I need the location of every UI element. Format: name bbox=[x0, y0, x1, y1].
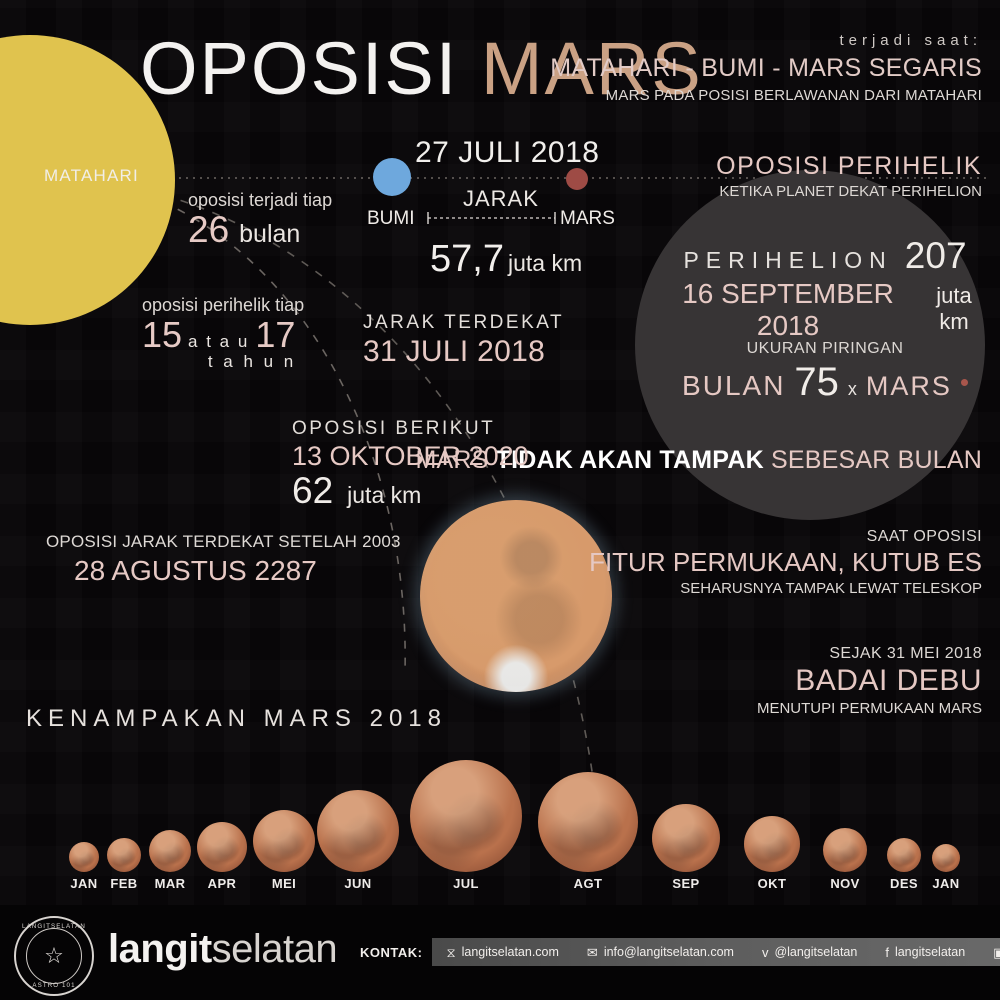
mars-disk-graphic bbox=[197, 822, 247, 872]
mars-disk-graphic bbox=[652, 804, 720, 872]
mars-disk-agt-7 bbox=[538, 772, 638, 872]
perihelion-value: 207 bbox=[905, 235, 967, 277]
dust-storm-title: BADAI DEBU bbox=[757, 664, 982, 698]
telescope-note: SEHARUSNYA TAMPAK LEWAT TELESKOP bbox=[589, 580, 982, 597]
perihelion-label: PERIHELION bbox=[683, 247, 892, 274]
appearance-section-title: KENAMPAKAN MARS 2018 bbox=[26, 705, 447, 733]
perihelic-interval-number-2: 17 bbox=[255, 314, 295, 356]
disk-size-label: UKURAN PIRINGAN bbox=[665, 340, 985, 358]
earth-label: BUMI bbox=[367, 208, 415, 230]
dust-storm-since: SEJAK 31 MEI 2018 bbox=[757, 645, 982, 663]
closest-after-2003-label: OPOSISI JARAK TERDEKAT SETELAH 2003 bbox=[46, 532, 401, 552]
perihelion-unit: juta km bbox=[923, 283, 985, 335]
contact-link-rss[interactable]: ⧖langitselatan.com bbox=[432, 945, 572, 959]
rss-icon: ⧖ bbox=[446, 946, 455, 959]
mars-size-progression-chart bbox=[0, 752, 1000, 872]
contact-link-text: langitselatan.com bbox=[462, 945, 559, 959]
perihelic-interval-number-1: 15 bbox=[142, 314, 182, 356]
opposition-interval-unit: bulan bbox=[239, 220, 300, 249]
mars-disk-feb-1 bbox=[107, 838, 141, 872]
month-label-jan-12: JAN bbox=[932, 876, 959, 891]
month-label-apr-3: APR bbox=[208, 876, 237, 891]
contact-link-twitter[interactable]: ᴠ@langitselatan bbox=[748, 945, 871, 959]
closest-approach-label: JARAK TERDEKAT bbox=[363, 312, 564, 334]
times-symbol: x bbox=[848, 379, 857, 400]
contact-link-email[interactable]: ✉info@langitselatan.com bbox=[573, 945, 748, 959]
dust-storm-block: SEJAK 31 MEI 2018 BADAI DEBU MENUTUPI PE… bbox=[757, 645, 982, 717]
perihelic-interval-conjunction: a t a u bbox=[188, 332, 249, 352]
logo-ring-top-text: LANGITSELATAN bbox=[16, 923, 92, 930]
distance-unit: juta km bbox=[508, 250, 582, 277]
twitter-icon: ᴠ bbox=[762, 946, 769, 959]
logo-ring-bottom-text: ASTRO 101 bbox=[16, 982, 92, 989]
mars-disk-graphic bbox=[538, 772, 638, 872]
mars-disk-graphic bbox=[410, 760, 522, 872]
month-label-feb-1: FEB bbox=[110, 876, 137, 891]
next-opposition-block: OPOSISI BERIKUT 13 OKTOBER 2020 62 juta … bbox=[292, 418, 529, 512]
mars-disk-mar-2 bbox=[149, 830, 191, 872]
closest-after-2003-block: OPOSISI JARAK TERDEKAT SETELAH 2003 28 A… bbox=[46, 532, 401, 587]
perihelion-data-block: PERIHELION 207 16 SEPTEMBER 2018 juta km bbox=[665, 235, 985, 342]
month-label-mar-2: MAR bbox=[155, 876, 186, 891]
alignment-text: MATAHARI - BUMI - MARS SEGARIS bbox=[550, 54, 982, 83]
mars-disk-okt-9 bbox=[744, 816, 800, 872]
mars-disk-graphic bbox=[253, 810, 315, 872]
month-label-agt-7: AGT bbox=[574, 876, 603, 891]
contact-link-text: langitselatan bbox=[895, 945, 965, 959]
contact-link-facebook[interactable]: flangitselatan bbox=[871, 945, 979, 959]
mars-disk-mei-4 bbox=[253, 810, 315, 872]
surface-features-block: SAAT OPOSISI FITUR PERMUKAAN, KUTUB ES S… bbox=[589, 528, 982, 597]
mars-disk-nov-10 bbox=[823, 828, 867, 872]
distance-label: JARAK bbox=[463, 186, 539, 212]
mars-disk-jan-0 bbox=[69, 842, 99, 872]
closest-after-2003-date: 28 AGUSTUS 2287 bbox=[74, 555, 401, 587]
langitselatan-logo: LANGITSELATAN ☆ ASTRO 101 bbox=[14, 916, 94, 996]
mars-disk-des-11 bbox=[887, 838, 921, 872]
closest-approach-block: JARAK TERDEKAT 31 JULI 2018 bbox=[363, 312, 564, 369]
perihelic-interval-block: oposisi perihelik tiap 15 a t a u 17 t a… bbox=[142, 295, 304, 372]
perihelic-interval-label: oposisi perihelik tiap bbox=[142, 295, 304, 316]
perihelic-subtitle: KETIKA PLANET DEKAT PERIHELION bbox=[716, 183, 982, 200]
mars-disk-sep-8 bbox=[652, 804, 720, 872]
month-axis-labels: JANFEBMARAPRMEIJUNJULAGTSEPOKTNOVDESJAN bbox=[0, 876, 1000, 900]
distance-value: 57,7 bbox=[430, 238, 504, 281]
brand-wordmark: langitselatan bbox=[108, 927, 337, 972]
mars-disk-graphic bbox=[149, 830, 191, 872]
month-label-nov-10: NOV bbox=[830, 876, 859, 891]
email-icon: ✉ bbox=[587, 946, 598, 959]
contact-link-text: @langitselatan bbox=[774, 945, 857, 959]
closest-approach-date: 31 JULI 2018 bbox=[363, 335, 564, 369]
perihelic-title: OPOSISI PERIHELIK bbox=[716, 152, 982, 181]
sun-label: MATAHARI bbox=[44, 166, 139, 186]
opposition-date: 27 JULI 2018 bbox=[415, 136, 599, 170]
perihelic-interval-unit: t a h u n bbox=[200, 352, 304, 372]
mars-word: MARS bbox=[866, 371, 952, 402]
opposition-interval-block: oposisi terjadi tiap 26 bulan bbox=[188, 190, 332, 251]
mars-disk-graphic bbox=[823, 828, 867, 872]
month-label-jan-0: JAN bbox=[70, 876, 97, 891]
month-label-okt-9: OKT bbox=[758, 876, 787, 891]
kontak-label: KONTAK: bbox=[360, 945, 432, 960]
title-part-oposisi: OPOSISI bbox=[140, 27, 458, 110]
facebook-icon: f bbox=[885, 946, 889, 959]
next-opposition-date: 13 OKTOBER 2020 bbox=[292, 441, 529, 472]
opposition-definition-block: terjadi saat: MATAHARI - BUMI - MARS SEG… bbox=[550, 32, 982, 104]
saat-oposisi-label: SAAT OPOSISI bbox=[589, 528, 982, 546]
distance-measure-bar bbox=[428, 212, 555, 224]
perihelion-date: 16 SEPTEMBER 2018 bbox=[665, 278, 911, 342]
mars-disk-jan-12 bbox=[932, 844, 960, 872]
size-ratio-number: 75 bbox=[794, 360, 839, 405]
infographic-canvas: OPOSISI MARS terjadi saat: MATAHARI - BU… bbox=[0, 0, 1000, 1000]
month-label-jul-6: JUL bbox=[453, 876, 479, 891]
perihelic-opposition-heading: OPOSISI PERIHELIK KETIKA PLANET DEKAT PE… bbox=[716, 152, 982, 200]
mars-label: MARS bbox=[560, 208, 615, 230]
distance-value-block: 57,7 juta km bbox=[430, 238, 582, 281]
contact-link-text: info@langitselatan.com bbox=[604, 945, 734, 959]
mars-disk-graphic bbox=[932, 844, 960, 872]
mars-disk-jun-5 bbox=[317, 790, 399, 872]
mars-disk-graphic bbox=[887, 838, 921, 872]
surface-features-text: FITUR PERMUKAAN, KUTUB ES bbox=[589, 547, 982, 578]
opposition-interval-number: 26 bbox=[188, 209, 229, 251]
mars-size-dot-icon bbox=[961, 379, 968, 386]
brand-bold-part: langit bbox=[108, 927, 212, 971]
instagram-icon: ▣ bbox=[993, 946, 1000, 959]
myth-suffix: SEBESAR BULAN bbox=[764, 446, 982, 474]
month-label-mei-4: MEI bbox=[272, 876, 296, 891]
disk-size-comparison-block: UKURAN PIRINGAN BULAN 75 x MARS bbox=[665, 340, 985, 405]
next-opposition-unit: juta km bbox=[347, 482, 421, 509]
mars-disk-graphic bbox=[317, 790, 399, 872]
mars-disk-graphic bbox=[744, 816, 800, 872]
mars-disk-jul-6 bbox=[410, 760, 522, 872]
dust-storm-note: MENUTUPI PERMUKAAN MARS bbox=[757, 700, 982, 717]
month-label-des-11: DES bbox=[890, 876, 918, 891]
month-label-sep-8: SEP bbox=[672, 876, 699, 891]
earth-dot-graphic bbox=[373, 158, 411, 196]
contact-link-instagram[interactable]: ▣langitselatanmedia bbox=[979, 945, 1000, 959]
mars-photo bbox=[420, 500, 612, 692]
myth-emphasis: TIDAK AKAN TAMPAK bbox=[496, 446, 764, 474]
mars-disk-graphic bbox=[69, 842, 99, 872]
mars-dot-graphic bbox=[566, 168, 588, 190]
terjadi-saat-label: terjadi saat: bbox=[550, 32, 982, 49]
brand-light-part: selatan bbox=[212, 927, 337, 971]
mars-disk-graphic bbox=[107, 838, 141, 872]
next-opposition-label: OPOSISI BERIKUT bbox=[292, 418, 529, 440]
opposite-position-text: MARS PADA POSISI BERLAWANAN DARI MATAHAR… bbox=[550, 87, 982, 104]
contact-links-pill: ⧖langitselatan.com✉info@langitselatan.co… bbox=[432, 938, 1000, 966]
contact-bar: KONTAK: ⧖langitselatan.com✉info@langitse… bbox=[360, 938, 1000, 966]
mars-disk-apr-3 bbox=[197, 822, 247, 872]
moon-word: BULAN bbox=[682, 370, 785, 402]
opposition-interval-label: oposisi terjadi tiap bbox=[188, 190, 332, 211]
month-label-jun-5: JUN bbox=[344, 876, 371, 891]
next-opposition-distance: 62 bbox=[292, 470, 333, 512]
logo-emblem-icon: ☆ bbox=[26, 928, 82, 984]
